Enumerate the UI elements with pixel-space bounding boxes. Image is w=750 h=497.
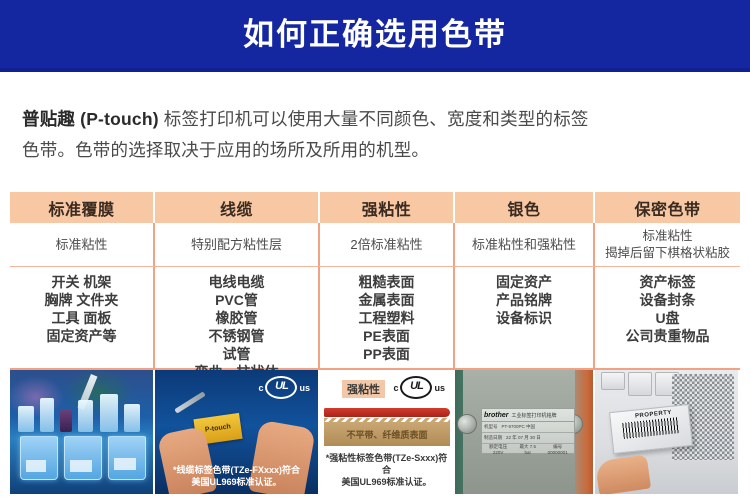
ribbon-comparison-table: 标准覆膜 线缆 强粘性 银色 保密色带 标准粘性 特别配方粘性层 2倍标准粘性 … bbox=[10, 192, 740, 492]
photo-cell-strong: 强粘性 c UL us 不平带、纤维质表面 *强粘性标签色带(TZe-Sxxx)… bbox=[320, 370, 455, 494]
bottle-shape bbox=[100, 394, 118, 432]
page-header-bar: 如何正确选用色带 bbox=[0, 0, 750, 72]
nameplate-row3-label: 额定电压 220V bbox=[484, 444, 512, 455]
adhesive-cell-1: 标准粘性 bbox=[10, 223, 155, 266]
nameplate-row3-extra: 编号 00000001 bbox=[543, 444, 572, 455]
column-header-strong-adhesive: 强粘性 bbox=[320, 192, 455, 223]
ul-c-letter: c bbox=[258, 383, 263, 393]
brand-name: 普贴趣 (P-touch) bbox=[22, 109, 159, 129]
strong-adhesive-diagram: 强粘性 c UL us 不平带、纤维质表面 *强粘性标签色带(TZe-Sxxx)… bbox=[320, 370, 453, 494]
uses-item: 固定资产等 bbox=[45, 327, 119, 345]
uses-item: 产品铭牌 bbox=[496, 291, 552, 309]
intro-line-2: 色带。色带的选择取决于应用的场所及所用的机型。 bbox=[22, 140, 429, 160]
rough-surface-text: 不平带、纤维质表面 bbox=[324, 422, 450, 448]
keyboard-key bbox=[628, 372, 652, 396]
intro-line-1: 标签打印机可以使用大量不同颜色、宽度和类型的标签 bbox=[159, 109, 589, 129]
keyboard-key bbox=[601, 372, 625, 390]
beaker-label bbox=[114, 458, 136, 470]
adhesive-text-5: 标准粘性 bbox=[642, 228, 692, 245]
bottle-shape bbox=[78, 400, 93, 432]
photo-cell-lab bbox=[10, 370, 155, 494]
column-header-security: 保密色带 bbox=[595, 192, 740, 223]
security-label-photo: PROPERTY bbox=[595, 370, 738, 494]
photo-cell-security: PROPERTY bbox=[595, 370, 740, 494]
uses-item: 粗糙表面 bbox=[359, 273, 415, 291]
uses-list-3: 粗糙表面金属表面工程塑料PE表面PP表面 bbox=[359, 273, 415, 363]
nameplate-row: 制造日期 22 年 07 月 30 日 bbox=[482, 433, 574, 444]
adhesive-text-3: 2倍标准粘性 bbox=[350, 236, 422, 253]
adhesive-text-1: 标准粘性 bbox=[55, 236, 107, 253]
uses-item: 电线电缆 bbox=[195, 273, 279, 291]
uses-cell-4: 固定资产产品铭牌设备标识 bbox=[455, 267, 595, 368]
uses-item: 工程塑料 bbox=[359, 309, 415, 327]
bolt-icon bbox=[457, 414, 477, 434]
photo-cell-cable: c UL us P-touch *线缆标签色带(TZe-FXxxx)符合 美国U… bbox=[155, 370, 320, 494]
table-image-row: c UL us P-touch *线缆标签色带(TZe-FXxxx)符合 美国U… bbox=[10, 368, 740, 494]
ul-us-letters: us bbox=[434, 383, 445, 393]
uses-list-2: 电线电缆PVC管橡胶管不锈钢管试管弯曲、柱状体 bbox=[195, 273, 279, 381]
uses-cell-3: 粗糙表面金属表面工程塑料PE表面PP表面 bbox=[320, 267, 455, 368]
ul-us-letters: us bbox=[299, 383, 310, 393]
adhesive-cell-5: 标准粘性 揭掉后留下棋格状粘胶 bbox=[595, 223, 740, 266]
adhesive-cell-2: 特别配方粘性层 bbox=[155, 223, 320, 266]
beaker-shape bbox=[20, 436, 58, 480]
nameplate-title-text: 工业标签打印机铭牌 bbox=[512, 412, 557, 419]
cable-label-photo: c UL us P-touch *线缆标签色带(TZe-FXxxx)符合 美国U… bbox=[155, 370, 318, 494]
beaker-shape bbox=[64, 436, 102, 480]
bottle-shape bbox=[40, 398, 54, 432]
uses-item: PVC管 bbox=[195, 291, 279, 309]
uses-cell-2: 电线电缆PVC管橡胶管不锈钢管试管弯曲、柱状体 bbox=[155, 267, 320, 368]
brother-nameplate-photo: brother 工业标签打印机铭牌 机型号 PT-9700PC 中国 制造日期 … bbox=[455, 370, 593, 494]
ul-circle-glyph: UL bbox=[400, 376, 432, 399]
nameplate-row: 额定电压 220V 最大 7.5 bar 编号 00000001 bbox=[482, 444, 574, 454]
nameplate-row2-value: 22 年 07 月 30 日 bbox=[506, 435, 541, 441]
keyboard-keys-shape bbox=[601, 372, 679, 396]
adhesive-text-2: 特别配方粘性层 bbox=[191, 236, 282, 253]
rough-surface-shape: 不平带、纤维质表面 bbox=[324, 422, 450, 446]
uses-item: PP表面 bbox=[359, 345, 415, 363]
cable-caption-line2: 美国UL969标准认证。 bbox=[159, 476, 314, 488]
adhesive-text-5-line2: 揭掉后留下棋格状粘胶 bbox=[605, 245, 730, 262]
strong-caption-line2: 美国UL969标准认证。 bbox=[322, 476, 451, 488]
cable-caption: *线缆标签色带(TZe-FXxxx)符合 美国UL969标准认证。 bbox=[159, 464, 314, 488]
ul-certification-icon: c UL us bbox=[258, 376, 310, 399]
uses-list-5: 资产标签设备封条U盘公司贵重物品 bbox=[626, 273, 710, 345]
uses-item: 资产标签 bbox=[626, 273, 710, 291]
uses-item: 试管 bbox=[195, 345, 279, 363]
ul-c-letter: c bbox=[393, 383, 398, 393]
adhesive-cell-4: 标准粘性和强粘性 bbox=[455, 223, 595, 266]
uses-item: PE表面 bbox=[359, 327, 415, 345]
barcode-icon bbox=[622, 417, 679, 439]
adhesive-band-shape bbox=[324, 408, 450, 417]
uses-item: 橡胶管 bbox=[195, 309, 279, 327]
nameplate-row1-value: PT-9700PC 中国 bbox=[502, 424, 536, 430]
cable-wire-shape bbox=[174, 391, 205, 413]
bottle-shape bbox=[18, 406, 34, 432]
uses-item: 胸牌 文件夹 bbox=[45, 291, 119, 309]
nameplate-shape: brother 工业标签打印机铭牌 机型号 PT-9700PC 中国 制造日期 … bbox=[481, 408, 575, 454]
table-header-row: 标准覆膜 线缆 强粘性 银色 保密色带 bbox=[10, 192, 740, 223]
finger-shape bbox=[595, 455, 651, 494]
nameplate-row: 机型号 PT-9700PC 中国 bbox=[482, 422, 574, 433]
adhesive-cell-3: 2倍标准粘性 bbox=[320, 223, 455, 266]
beaker-label bbox=[70, 460, 92, 472]
bottle-shape bbox=[124, 404, 140, 432]
peeled-security-label: PROPERTY bbox=[609, 404, 693, 454]
brother-logo-text: brother bbox=[484, 412, 509, 419]
uses-item: 开关 机架 bbox=[45, 273, 119, 291]
column-header-cable: 线缆 bbox=[155, 192, 320, 223]
ul-circle-glyph: UL bbox=[265, 376, 297, 399]
cable-caption-line1: *线缆标签色带(TZe-FXxxx)符合 bbox=[159, 464, 314, 476]
column-header-standard-laminated: 标准覆膜 bbox=[10, 192, 155, 223]
uses-item: U盘 bbox=[626, 309, 710, 327]
lab-glassware-photo bbox=[10, 370, 153, 494]
uses-cell-1: 开关 机架胸牌 文件夹工具 面板固定资产等 bbox=[10, 267, 155, 368]
adhesive-text-4: 标准粘性和强粘性 bbox=[472, 236, 576, 253]
uses-item: 工具 面板 bbox=[45, 309, 119, 327]
uses-list-1: 开关 机架胸牌 文件夹工具 面板固定资产等 bbox=[45, 273, 119, 345]
uses-item: 设备标识 bbox=[496, 309, 552, 327]
page-title: 如何正确选用色带 bbox=[243, 19, 507, 50]
uses-cell-5: 资产标签设备封条U盘公司贵重物品 bbox=[595, 267, 740, 368]
photo-cell-nameplate: brother 工业标签打印机铭牌 机型号 PT-9700PC 中国 制造日期 … bbox=[455, 370, 595, 494]
nameplate-brand-row: brother 工业标签打印机铭牌 bbox=[482, 409, 574, 422]
beaker-label bbox=[26, 460, 46, 472]
strong-adhesive-badge: 强粘性 bbox=[342, 380, 385, 398]
strong-caption-line1: *强粘性标签色带(TZe-Sxxx)符合 bbox=[322, 452, 451, 476]
uses-item: 不锈钢管 bbox=[195, 327, 279, 345]
nameplate-row3-value: 最大 7.5 bar bbox=[516, 444, 539, 455]
table-uses-row: 开关 机架胸牌 文件夹工具 面板固定资产等 电线电缆PVC管橡胶管不锈钢管试管弯… bbox=[10, 267, 740, 368]
intro-paragraph: 普贴趣 (P-touch) 标签打印机可以使用大量不同颜色、宽度和类型的标签 色… bbox=[22, 104, 728, 166]
nameplate-row1-label: 机型号 bbox=[484, 424, 498, 430]
nameplate-row2-label: 制造日期 bbox=[484, 435, 502, 441]
table-adhesive-row: 标准粘性 特别配方粘性层 2倍标准粘性 标准粘性和强粘性 标准粘性 揭掉后留下棋… bbox=[10, 223, 740, 267]
strong-caption: *强粘性标签色带(TZe-Sxxx)符合 美国UL969标准认证。 bbox=[322, 452, 451, 488]
bottle-shape bbox=[60, 410, 72, 432]
uses-item: 设备封条 bbox=[626, 291, 710, 309]
uses-list-4: 固定资产产品铭牌设备标识 bbox=[496, 273, 552, 327]
uses-item: 金属表面 bbox=[359, 291, 415, 309]
column-header-silver: 银色 bbox=[455, 192, 595, 223]
uses-item: 固定资产 bbox=[496, 273, 552, 291]
ul-certification-icon: c UL us bbox=[393, 376, 445, 399]
uses-item: 公司贵重物品 bbox=[626, 327, 710, 345]
